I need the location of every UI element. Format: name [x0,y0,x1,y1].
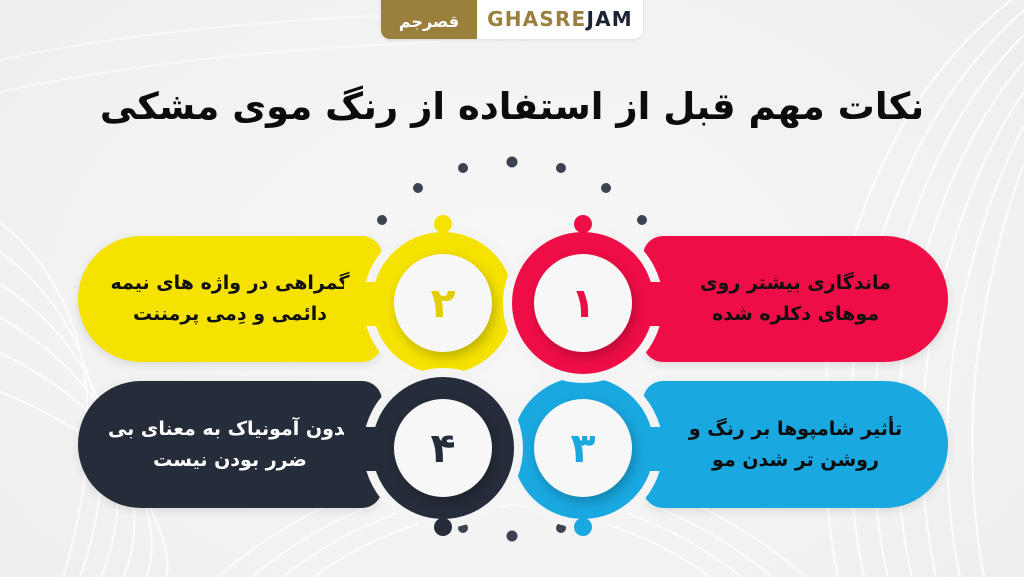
tip-card-1[interactable]: ماندگاری بیشتر روی موهای دکلره شده [643,236,948,362]
tip-card-4-text: بدون آمونیاک به معنای بی ضرر بودن نیست [104,414,356,476]
step-badge-4[interactable]: ۴ [372,377,514,519]
step-badge-2-number: ۲ [394,254,492,352]
step-badge-2[interactable]: ۲ [372,232,514,374]
step-badge-1[interactable]: ۱ [512,232,654,374]
brand-logo-latin-suffix: JAM [586,7,632,31]
step-badge-4-pip-dot [434,518,452,536]
brand-logo-latin-prefix: GHASRE [487,7,586,31]
step-badge-3-pip-dot [574,518,592,536]
page-title: نکات مهم قبل از استفاده از رنگ موی مشکی [0,82,1024,132]
brand-logo[interactable]: قصرجم GHASREJAM [381,0,643,39]
tip-card-2[interactable]: گمراهی در واژه های نیمه دائمی و دِمی پرم… [78,236,382,362]
brand-logo-persian: قصرجم [381,0,477,39]
step-badge-2-pip-dot [434,215,452,233]
infographic-poster: قصرجم GHASREJAM نکات مهم قبل از استفاده … [0,0,1024,577]
step-badge-1-pip-dot [574,215,592,233]
step-badge-4-number: ۴ [394,399,492,497]
step-badge-3-number: ۳ [534,399,632,497]
tip-card-3[interactable]: تأثیر شامپوها بر رنگ و روشن تر شدن مو [643,381,948,508]
tip-card-3-text: تأثیر شامپوها بر رنگ و روشن تر شدن مو [669,414,922,476]
step-badge-1-number: ۱ [534,254,632,352]
tip-card-4[interactable]: بدون آمونیاک به معنای بی ضرر بودن نیست [78,381,382,508]
brand-logo-latin: GHASREJAM [477,0,643,39]
tip-card-1-text: ماندگاری بیشتر روی موهای دکلره شده [669,268,922,330]
tip-card-2-text: گمراهی در واژه های نیمه دائمی و دِمی پرم… [104,268,356,330]
step-badge-3[interactable]: ۳ [512,377,654,519]
